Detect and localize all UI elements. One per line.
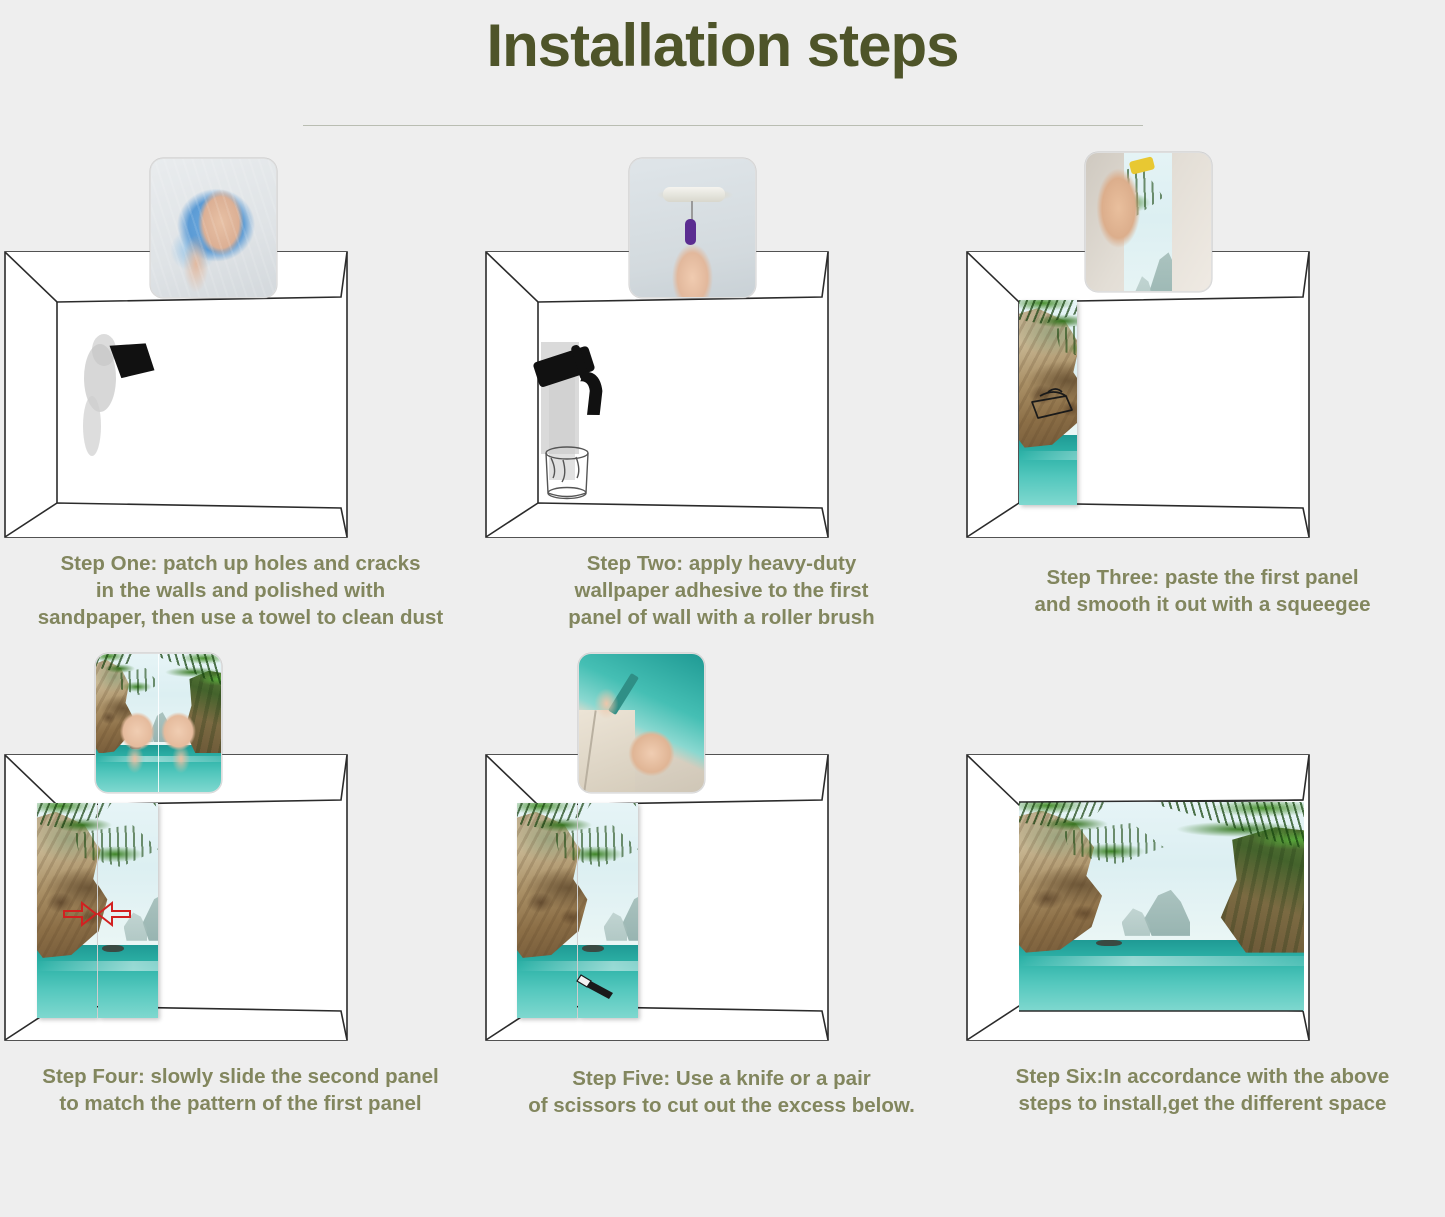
caption-line: and smooth it out with a squeegee [970, 591, 1435, 618]
caption-line: Step Two: apply heavy-duty [489, 550, 954, 577]
step-three-caption: Step Three: paste the first panel and sm… [962, 550, 1443, 618]
steps-grid: Step One: patch up holes and cracks in t… [0, 150, 1445, 1119]
steps-row-bottom: Step Four: slowly slide the second panel… [0, 653, 1445, 1119]
step-card-five: Step Five: Use a knife or a pair of scis… [481, 653, 962, 1119]
step-two-caption: Step Two: apply heavy-duty wallpaper adh… [481, 550, 962, 631]
paint-roller-on-wall-photo [629, 158, 756, 298]
step-four-caption: Step Four: slowly slide the second panel… [0, 1053, 481, 1117]
caption-line: Step One: patch up holes and cracks [8, 550, 473, 577]
caption-line: wallpaper adhesive to the first [489, 577, 954, 604]
step-one-caption: Step One: patch up holes and cracks in t… [0, 550, 481, 631]
step-card-six: Step Six:In accordance with the above st… [962, 653, 1443, 1119]
caption-line: Step Five: Use a knife or a pair [489, 1065, 954, 1092]
step-three-illustration [962, 150, 1443, 550]
step-four-illustration [0, 653, 481, 1053]
step-five-caption: Step Five: Use a knife or a pair of scis… [481, 1053, 962, 1119]
caption-line: of scissors to cut out the excess below. [489, 1092, 954, 1119]
step-card-four: Step Four: slowly slide the second panel… [0, 653, 481, 1119]
steps-row-top: Step One: patch up holes and cracks in t… [0, 150, 1445, 631]
room-with-two-mural-panels-aligned [0, 753, 481, 1043]
step-five-illustration [481, 653, 962, 1053]
step-card-one: Step One: patch up holes and cracks in t… [0, 150, 481, 631]
caption-line: in the walls and polished with [8, 577, 473, 604]
room-with-first-mural-panel [962, 250, 1443, 540]
caption-line: panel of wall with a roller brush [489, 604, 954, 631]
hand-wiping-wall-with-blue-cloth-photo [150, 158, 277, 298]
room-with-panels-being-trimmed [481, 753, 962, 1043]
step-one-illustration [0, 150, 481, 550]
page-title: Installation steps [0, 0, 1445, 77]
caption-line: Step Three: paste the first panel [970, 564, 1435, 591]
caption-line: steps to install,get the different space [970, 1090, 1435, 1117]
caption-line: Step Six:In accordance with the above [970, 1063, 1435, 1090]
step-two-illustration [481, 150, 962, 550]
step-six-caption: Step Six:In accordance with the above st… [962, 1053, 1443, 1117]
caption-line: Step Four: slowly slide the second panel [8, 1063, 473, 1090]
knife-icon [577, 975, 613, 999]
header-divider [303, 125, 1143, 126]
room-with-completed-tropical-mural [962, 753, 1443, 1043]
caption-line: to match the pattern of the first panel [8, 1090, 473, 1117]
step-card-two: Step Two: apply heavy-duty wallpaper adh… [481, 150, 962, 631]
step-six-illustration [962, 653, 1443, 1053]
step-card-three: Step Three: paste the first panel and sm… [962, 150, 1443, 631]
caption-line: sandpaper, then use a towel to clean dus… [8, 604, 473, 631]
